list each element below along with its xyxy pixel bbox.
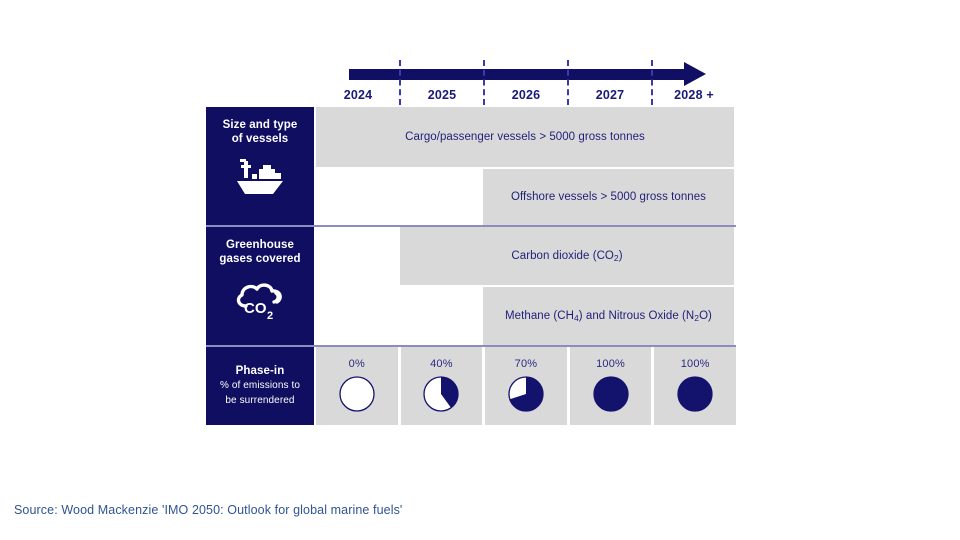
phase-in-pie-icon: [337, 374, 377, 414]
timeline-year-2026: 2026: [484, 86, 568, 105]
phase-in-cell: 70%: [485, 347, 567, 425]
section-phase-in: Phase-in % of emissions to be surrendere…: [206, 347, 736, 425]
section-label-vessels: Size and type of vessels: [206, 107, 314, 225]
bar-methane-nitrous-oxide: Methane (CH4) and Nitrous Oxide (N2O): [483, 287, 734, 345]
phase-in-pie-icon: [421, 374, 461, 414]
section-bars-greenhouse: Carbon dioxide (CO2) Methane (CH4) and N…: [316, 227, 736, 345]
section-subtitle-line1: % of emissions to: [220, 380, 300, 393]
phase-in-percent-label: 70%: [515, 358, 538, 370]
source-caption: Source: Wood Mackenzie 'IMO 2050: Outloo…: [14, 503, 402, 517]
section-title-line1: Greenhouse: [226, 239, 294, 253]
phase-in-cell: 40%: [401, 347, 483, 425]
phase-in-cell: 100%: [570, 347, 652, 425]
phase-in-pie-icon: [675, 374, 715, 414]
phase-in-cell: 0%: [316, 347, 398, 425]
section-label-phase-in: Phase-in % of emissions to be surrendere…: [206, 347, 314, 425]
timeline-year-2027: 2027: [568, 86, 652, 105]
section-title-line2: of vessels: [232, 133, 289, 147]
bar-label: Carbon dioxide (CO2): [511, 250, 622, 262]
section-title-line1: Size and type: [223, 119, 298, 133]
bar-label: Methane (CH4) and Nitrous Oxide (N2O): [505, 310, 712, 322]
section-subtitle-line2: be surrendered: [225, 395, 294, 408]
phase-in-pie-icon: [591, 374, 631, 414]
right-arrow-icon: [684, 62, 706, 86]
timeline-year-row: 2024 2025 2026 2027 2028 +: [316, 86, 736, 105]
section-bars-phase-in: 0%40%70%100%100%: [316, 347, 736, 425]
phase-in-pie-icon: [506, 374, 546, 414]
bar-label: Offshore vessels > 5000 gross tonnes: [511, 191, 706, 203]
phase-in-percent-label: 100%: [681, 358, 710, 370]
ship-icon: [232, 156, 288, 203]
phase-in-percent-label: 40%: [430, 358, 453, 370]
bar-label: Cargo/passenger vessels > 5000 gross ton…: [405, 131, 645, 143]
timeline-year-2024: 2024: [316, 86, 400, 105]
section-title: Phase-in: [236, 365, 285, 379]
timeline-year-2025: 2025: [400, 86, 484, 105]
section-size-and-type-of-vessels: Size and type of vessels: [206, 107, 736, 225]
phase-in-pie-row: 0%40%70%100%100%: [316, 347, 736, 425]
co2-cloud-icon: CO 2: [230, 276, 290, 327]
svg-text:2: 2: [267, 310, 273, 322]
section-title-line2: gases covered: [219, 253, 300, 267]
bar-carbon-dioxide: Carbon dioxide (CO2): [400, 227, 734, 285]
infographic-root: 2024 2025 2026 2027 2028 + Size and type…: [0, 0, 960, 540]
section-bars-vessels: Cargo/passenger vessels > 5000 gross ton…: [316, 107, 736, 225]
phase-in-cell: 100%: [654, 347, 736, 425]
svg-text:CO: CO: [244, 300, 267, 317]
timeline-header: 2024 2025 2026 2027 2028 +: [316, 60, 736, 105]
timeline-year-2028: 2028 +: [652, 86, 736, 105]
phase-in-percent-label: 100%: [596, 358, 625, 370]
section-greenhouse-gases-covered: Greenhouse gases covered CO 2: [206, 227, 736, 345]
requirements-matrix: Size and type of vessels: [206, 107, 736, 425]
section-label-greenhouse: Greenhouse gases covered CO 2: [206, 227, 314, 345]
bar-offshore-vessels: Offshore vessels > 5000 gross tonnes: [483, 169, 734, 225]
phase-in-percent-label: 0%: [349, 358, 365, 370]
bar-cargo-passenger-vessels: Cargo/passenger vessels > 5000 gross ton…: [316, 107, 734, 167]
